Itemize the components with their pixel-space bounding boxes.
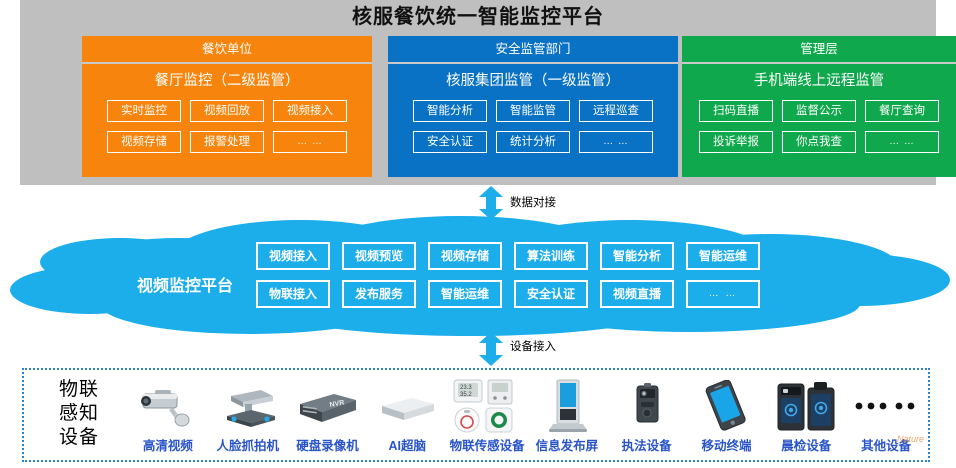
org-chip[interactable]: 扫码直播 <box>699 100 773 122</box>
device-label: 执法设备 <box>622 435 672 454</box>
device-item[interactable]: 执法设备 <box>607 372 687 460</box>
org-chip-more[interactable]: … … <box>865 131 939 153</box>
svg-text:23.3: 23.3 <box>460 385 472 391</box>
org-chip-row: 实时监控 视频回放 视频接入 <box>92 100 362 122</box>
nvr-recorder-icon: NVR <box>288 377 368 435</box>
cloud-capability-group: 视频接入 视频预览 视频存储 算法训练 智能分析 智能运维 物联接入 发布服务 … <box>256 242 760 308</box>
org-column-canyin: 餐饮单位 餐厅监控（二级监管） 实时监控 视频回放 视频接入 视频存储 报警处理… <box>82 36 372 177</box>
org-chip[interactable]: 视频回放 <box>190 100 264 122</box>
cloud-capability-chip[interactable]: 物联接入 <box>256 280 330 308</box>
iot-sensor-icon: 23.3 35.2 <box>447 377 527 435</box>
device-item[interactable]: 移动终端 <box>687 372 767 460</box>
org-chip-group: 扫码直播 监督公示 餐厅查询 投诉举报 你点我查 … … <box>682 96 956 177</box>
device-item[interactable]: 晨检设备 <box>766 372 846 460</box>
org-chip-more[interactable]: … … <box>273 131 347 153</box>
device-item[interactable]: 人脸抓拍机 <box>208 372 288 460</box>
bullet-camera-icon <box>128 377 208 435</box>
org-column-header: 餐饮单位 <box>82 36 372 64</box>
org-chip-row: 扫码直播 监督公示 餐厅查询 <box>692 100 946 122</box>
org-chip[interactable]: 餐厅查询 <box>865 100 939 122</box>
device-item[interactable]: NVR 硬盘录像机 <box>288 372 368 460</box>
device-item[interactable]: AI超脑 <box>367 372 447 460</box>
org-chip-row: 安全认证 统计分析 … … <box>398 131 668 153</box>
org-chip[interactable]: 你点我查 <box>782 131 856 153</box>
org-chip-row: 视频存储 报警处理 … … <box>92 131 362 153</box>
org-column-subtitle: 手机端线上远程监管 <box>682 66 956 96</box>
cloud-platform-label: 视频监控平台 <box>105 272 265 296</box>
svg-text:35.2: 35.2 <box>460 392 472 398</box>
morning-check-terminal-icon <box>766 377 846 435</box>
org-chip-row: 投诉举报 你点我查 … … <box>692 131 946 153</box>
org-column-subtitle: 餐厅监控（二级监管） <box>82 66 372 96</box>
iot-device-layer: 物联 感知 设备 高 <box>22 368 930 462</box>
page-title: 核服餐饮统一智能监控平台 <box>20 2 936 32</box>
device-label: 硬盘录像机 <box>296 435 359 454</box>
org-chip[interactable]: 投诉举报 <box>699 131 773 153</box>
device-label: 晨检设备 <box>781 435 831 454</box>
org-chip[interactable]: 实时监控 <box>107 100 181 122</box>
device-label: 信息发布屏 <box>536 435 599 454</box>
cloud-capability-chip[interactable]: 视频直播 <box>600 280 674 308</box>
iot-title-line: 物联 <box>40 378 118 402</box>
arrow-label: 数据对接 <box>510 194 556 210</box>
cloud-capability-chip-more[interactable]: … … <box>686 280 760 308</box>
iot-device-list: 高清视频 人脸 <box>128 372 926 460</box>
cloud-capability-chip[interactable]: 发布服务 <box>342 280 416 308</box>
body-camera-icon <box>607 377 687 435</box>
org-chip[interactable]: 报警处理 <box>190 131 264 153</box>
cloud-capability-chip[interactable]: 安全认证 <box>514 280 588 308</box>
cloud-capability-row: 视频接入 视频预览 视频存储 算法训练 智能分析 智能运维 <box>256 242 760 270</box>
ai-server-icon <box>367 377 447 435</box>
cloud-capability-chip[interactable]: 智能运维 <box>428 280 502 308</box>
cloud-capability-chip[interactable]: 视频存储 <box>428 242 502 270</box>
cloud-capability-chip[interactable]: 算法训练 <box>514 242 588 270</box>
org-column-header: 安全监管部门 <box>388 36 678 64</box>
cloud-capability-chip[interactable]: 智能分析 <box>600 242 674 270</box>
arrow-label: 设备接入 <box>510 338 556 354</box>
double-arrow-up-down-icon <box>478 332 504 366</box>
device-item[interactable]: 高清视频 <box>128 372 208 460</box>
org-chip[interactable]: 视频存储 <box>107 131 181 153</box>
device-item[interactable]: 其他设备 <box>846 372 926 460</box>
cloud-capability-chip[interactable]: 视频接入 <box>256 242 330 270</box>
device-label: 物联传感设备 <box>450 435 525 454</box>
iot-title-line: 感知 <box>40 402 118 426</box>
org-chip[interactable]: 统计分析 <box>496 131 570 153</box>
device-label: 移动终端 <box>701 435 751 454</box>
smartphone-icon <box>687 377 767 435</box>
org-column-header: 管理层 <box>682 36 956 64</box>
device-item[interactable]: 信息发布屏 <box>527 372 607 460</box>
face-capture-camera-icon <box>208 377 288 435</box>
iot-device-layer-title: 物联 感知 设备 <box>40 378 118 450</box>
org-column-guanli: 管理层 手机端线上远程监管 扫码直播 监督公示 餐厅查询 投诉举报 你点我查 …… <box>682 36 956 177</box>
cloud-capability-chip[interactable]: 智能运维 <box>686 242 760 270</box>
device-item[interactable]: 23.3 35.2 物联传感设备 <box>447 372 527 460</box>
device-label: 高清视频 <box>143 435 193 454</box>
org-chip[interactable]: 远程巡查 <box>579 100 653 122</box>
org-chip-row: 智能分析 智能监管 远程巡查 <box>398 100 668 122</box>
device-label: 人脸抓拍机 <box>216 435 279 454</box>
org-chip[interactable]: 智能监管 <box>496 100 570 122</box>
device-label: 其他设备 <box>861 435 911 454</box>
organization-layer-panel: 核服餐饮统一智能监控平台 餐饮单位 餐厅监控（二级监管） 实时监控 视频回放 视… <box>20 0 936 185</box>
org-chip-group: 实时监控 视频回放 视频接入 视频存储 报警处理 … … <box>82 96 372 177</box>
org-chip[interactable]: 视频接入 <box>273 100 347 122</box>
org-chip-more[interactable]: … … <box>579 131 653 153</box>
device-label: AI超脑 <box>389 435 427 454</box>
org-chip-group: 智能分析 智能监管 远程巡查 安全认证 统计分析 … … <box>388 96 678 177</box>
cloud-capability-row: 物联接入 发布服务 智能运维 安全认证 视频直播 … … <box>256 280 760 308</box>
iot-title-line: 设备 <box>40 426 118 450</box>
org-column-anquan: 安全监管部门 核服集团监管（一级监管） 智能分析 智能监管 远程巡查 安全认证 … <box>388 36 678 177</box>
ellipsis-dots-icon <box>846 377 926 435</box>
org-column-subtitle: 核服集团监管（一级监管） <box>388 66 678 96</box>
org-chip[interactable]: 安全认证 <box>413 131 487 153</box>
cloud-capability-chip[interactable]: 视频预览 <box>342 242 416 270</box>
digital-signage-icon <box>527 377 607 435</box>
video-platform-cloud: 视频监控平台 视频接入 视频预览 视频存储 算法训练 智能分析 智能运维 物联接… <box>0 212 956 337</box>
org-chip[interactable]: 智能分析 <box>413 100 487 122</box>
org-chip[interactable]: 监督公示 <box>782 100 856 122</box>
